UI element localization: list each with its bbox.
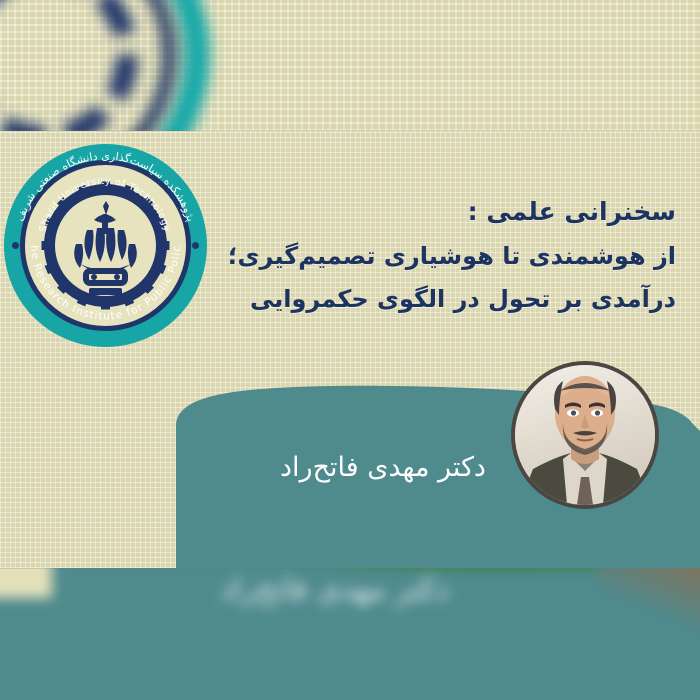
lecture-title-block: سخنرانی علمی : از هوشمندی تا هوشیاری تصم… bbox=[116, 193, 676, 318]
bottom-band-name-echo: دکتر مهدی فاتح‌راد bbox=[220, 572, 449, 607]
title-line-2: از هوشمندی تا هوشیاری تصمیم‌گیری؛ bbox=[116, 238, 676, 275]
portrait-illustration bbox=[515, 365, 655, 505]
poster-main-area: پژوهشکده سیاست‌گذاری دانشگاه صنعتی شریف … bbox=[0, 131, 700, 568]
blurred-logo-fragment bbox=[0, 0, 300, 131]
title-line-3: درآمدی بر تحول در الگوی حکمروایی bbox=[116, 281, 676, 318]
blurred-logo-gear bbox=[0, 0, 138, 131]
top-band-edge bbox=[0, 130, 700, 131]
top-blurred-logo-band bbox=[0, 0, 700, 131]
title-line-1: سخنرانی علمی : bbox=[116, 193, 676, 232]
speaker-name: دکتر مهدی فاتح‌راد bbox=[280, 452, 486, 483]
bottom-band-blur-layer: دکتر مهدی فاتح‌راد bbox=[0, 568, 700, 700]
bottom-band-beige-left-corner bbox=[0, 568, 52, 598]
bottom-band-edge bbox=[0, 568, 700, 569]
poster-image: پژوهشکده سیاست‌گذاری دانشگاه صنعتی شریف … bbox=[0, 0, 700, 700]
bottom-blurred-band: دکتر مهدی فاتح‌راد bbox=[0, 568, 700, 700]
speaker-portrait-photo bbox=[511, 361, 659, 509]
